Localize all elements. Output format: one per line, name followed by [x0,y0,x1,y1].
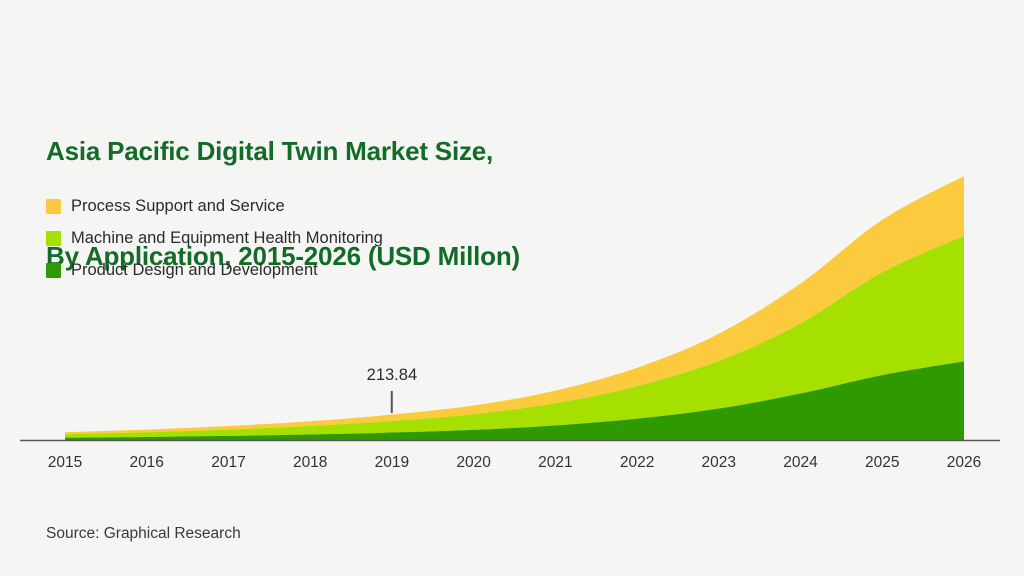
x-axis-label-2016: 2016 [129,455,163,471]
chart-canvas [0,0,1024,500]
chart-series-layer [65,176,964,440]
x-axis-label-2022: 2022 [620,455,654,471]
x-axis-label-2024: 2024 [783,455,817,471]
x-axis-label-2023: 2023 [702,455,736,471]
x-axis-label-2017: 2017 [211,455,245,471]
x-axis-label-2015: 2015 [48,455,82,471]
x-axis-label-2026: 2026 [947,455,981,471]
x-axis-label-2025: 2025 [865,455,899,471]
x-axis-label-2021: 2021 [538,455,572,471]
stacked-area-chart [0,0,1024,500]
x-axis-label-2020: 2020 [456,455,490,471]
x-axis-label-2018: 2018 [293,455,327,471]
source-note: Source: Graphical Research [46,526,241,542]
x-axis-label-2019: 2019 [375,455,409,471]
x-axis-labels: 2015201620172018201920202021202220232024… [0,455,1024,479]
chart-page: Asia Pacific Digital Twin Market Size, B… [0,0,1024,576]
